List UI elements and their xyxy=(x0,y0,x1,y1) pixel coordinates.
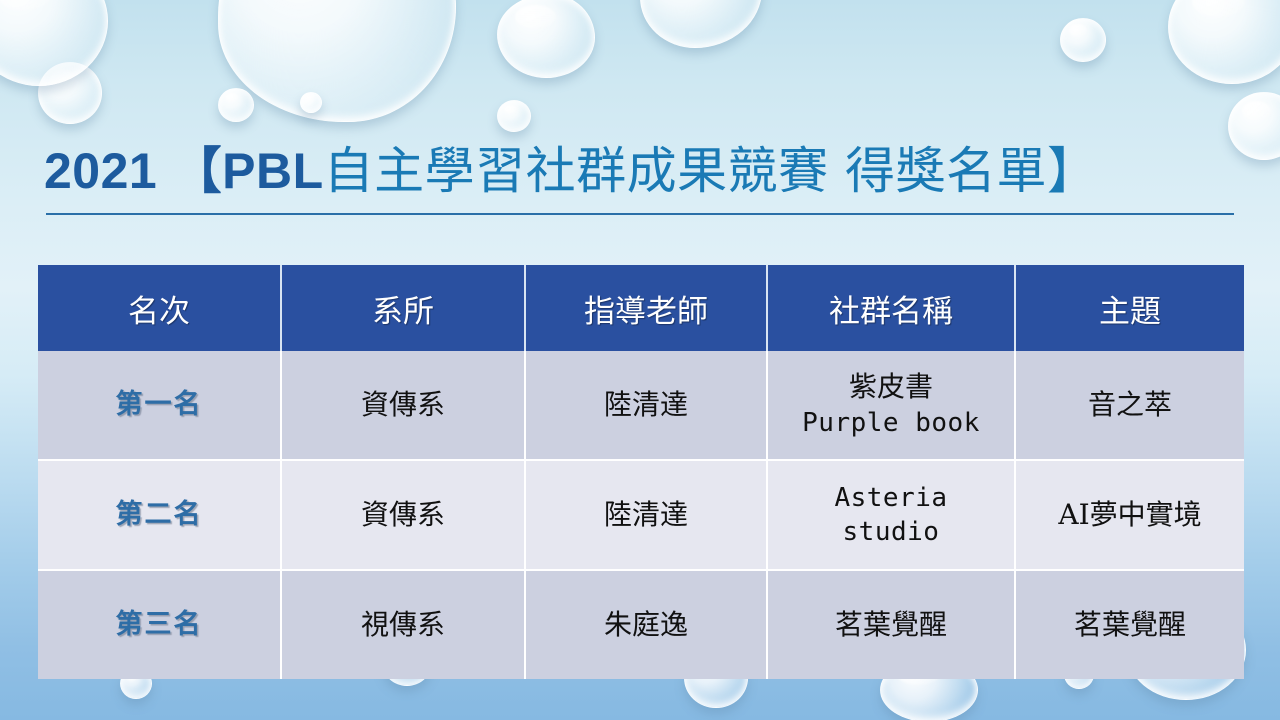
group-name-cjk: 茗葉覺醒 xyxy=(772,607,1010,644)
slide-canvas: 2021 【PBL自主學習社群成果競賽 得獎名單】 名次 系所 指導老師 社群名… xyxy=(0,0,1280,720)
cell-group-name: 茗葉覺醒 xyxy=(767,570,1015,679)
table-row: 第一名 資傳系 陸清達 紫皮書 Purple book 音之萃 xyxy=(38,351,1244,460)
cell-advisor: 陸清達 xyxy=(525,351,767,460)
cell-advisor: 陸清達 xyxy=(525,460,767,570)
water-droplet-icon xyxy=(1168,0,1280,84)
slide-title-block: 2021 【PBL自主學習社群成果競賽 得獎名單】 xyxy=(44,140,1236,202)
cell-topic: 音之萃 xyxy=(1015,351,1244,460)
column-header-group-name: 社群名稱 xyxy=(767,265,1015,351)
column-header-advisor: 指導老師 xyxy=(525,265,767,351)
water-droplet-icon xyxy=(640,0,762,48)
column-header-rank: 名次 xyxy=(38,265,281,351)
results-table: 名次 系所 指導老師 社群名稱 主題 第一名 資傳系 陸清達 紫皮書 Purpl… xyxy=(38,265,1244,679)
page-title: 2021 【PBL自主學習社群成果競賽 得獎名單】 xyxy=(44,140,1236,202)
table-header-row: 名次 系所 指導老師 社群名稱 主題 xyxy=(38,265,1244,351)
water-droplet-icon xyxy=(218,0,456,122)
water-droplet-icon xyxy=(1060,18,1106,62)
page-title-latin: 2021 【PBL xyxy=(44,143,324,199)
water-droplet-icon xyxy=(218,88,254,122)
group-name-cjk: 紫皮書 xyxy=(772,369,1010,406)
page-title-cjk: 自主學習社群成果競賽 得獎名單】 xyxy=(324,142,1098,200)
table-row: 第二名 資傳系 陸清達 Asteria studio AI夢中實境 xyxy=(38,460,1244,570)
water-droplet-icon xyxy=(0,0,108,86)
water-droplet-icon xyxy=(300,92,322,113)
table-row: 第三名 視傳系 朱庭逸 茗葉覺醒 茗葉覺醒 xyxy=(38,570,1244,679)
cell-rank: 第一名 xyxy=(38,351,281,460)
water-droplet-icon xyxy=(497,0,595,78)
cell-topic: AI夢中實境 xyxy=(1015,460,1244,570)
cell-advisor: 朱庭逸 xyxy=(525,570,767,679)
table-header: 名次 系所 指導老師 社群名稱 主題 xyxy=(38,265,1244,351)
results-table-container: 名次 系所 指導老師 社群名稱 主題 第一名 資傳系 陸清達 紫皮書 Purpl… xyxy=(38,265,1244,679)
cell-rank: 第三名 xyxy=(38,570,281,679)
water-droplet-icon xyxy=(38,62,102,124)
group-name-latin: Asteria xyxy=(772,481,1010,515)
cell-department: 資傳系 xyxy=(281,460,525,570)
column-header-topic: 主題 xyxy=(1015,265,1244,351)
cell-topic: 茗葉覺醒 xyxy=(1015,570,1244,679)
cell-rank: 第二名 xyxy=(38,460,281,570)
cell-group-name: 紫皮書 Purple book xyxy=(767,351,1015,460)
group-name-latin2: studio xyxy=(772,515,1010,549)
title-underline xyxy=(46,213,1234,215)
table-body: 第一名 資傳系 陸清達 紫皮書 Purple book 音之萃 第二名 資傳系 … xyxy=(38,351,1244,679)
water-droplet-icon xyxy=(497,100,531,132)
cell-department: 視傳系 xyxy=(281,570,525,679)
cell-department: 資傳系 xyxy=(281,351,525,460)
cell-group-name: Asteria studio xyxy=(767,460,1015,570)
group-name-latin: Purple book xyxy=(772,406,1010,440)
column-header-department: 系所 xyxy=(281,265,525,351)
